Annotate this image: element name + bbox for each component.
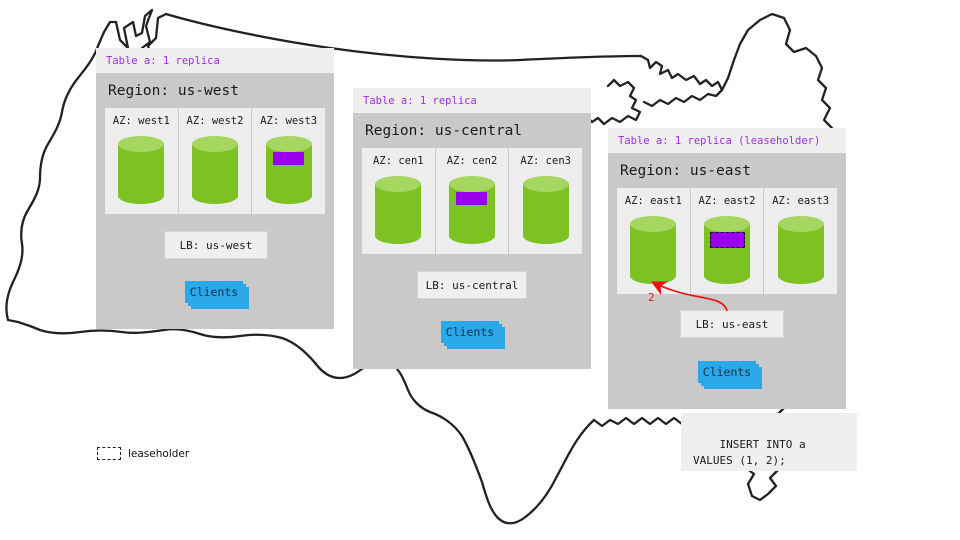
sql-statement-box: INSERT INTO a VALUES (1, 2); (681, 413, 857, 471)
arrow-step-number: 2 (648, 291, 655, 304)
range-leaseholder-east2 (710, 232, 745, 248)
range-replica-cen2 (456, 192, 487, 205)
sql-text: INSERT INTO a VALUES (1, 2); (693, 438, 806, 467)
legend-label: leaseholder (128, 448, 189, 460)
diagram-canvas: Table a: 1 replica Region: us-west AZ: w… (0, 0, 960, 540)
range-replica-west3 (273, 152, 304, 165)
legend-leaseholder: leaseholder (97, 447, 189, 460)
dashed-rect-icon (97, 447, 121, 460)
query-flow-arrow (654, 283, 727, 311)
